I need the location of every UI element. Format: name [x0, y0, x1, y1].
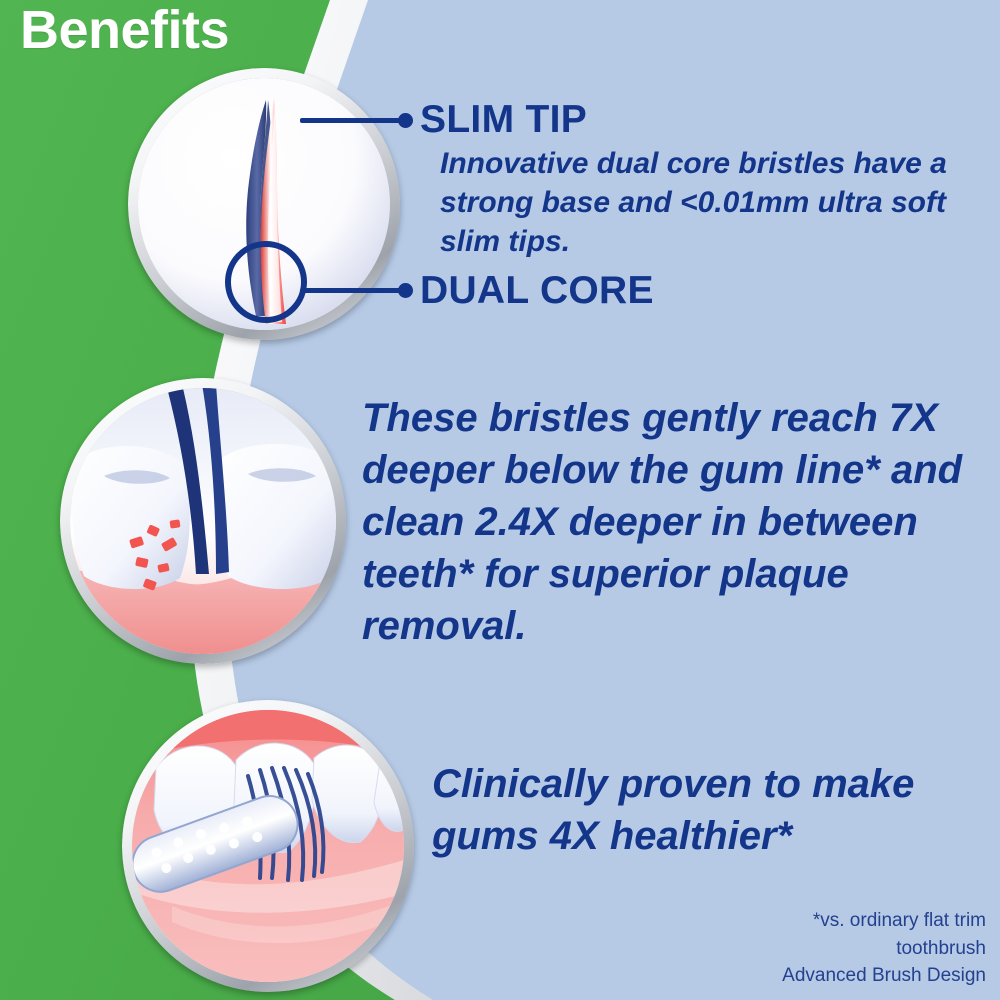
- footnote-line-2: toothbrush: [566, 935, 986, 963]
- footnote: *vs. ordinary flat trim toothbrush Advan…: [566, 907, 986, 990]
- benefit-text-bottom: Clinically proven to make gums 4X health…: [432, 758, 992, 862]
- page-title: Benefits: [20, 2, 229, 59]
- benefit-text-middle: These bristles gently reach 7X deeper be…: [362, 392, 982, 652]
- illustration-circle-between-teeth: [60, 378, 346, 664]
- footnote-line-3: Advanced Brush Design: [566, 962, 986, 990]
- circle-inner: [70, 388, 336, 654]
- leader-line-slim-tip: [300, 118, 408, 123]
- footnote-line-1: *vs. ordinary flat trim: [566, 907, 986, 935]
- leader-line-dual-core: [300, 288, 408, 293]
- benefits-infographic: Benefits: [0, 0, 1000, 1000]
- illustration-circle-brushing-gums: [122, 700, 414, 992]
- callout-body-slim-tip: Innovative dual core bristles have a str…: [440, 144, 985, 261]
- circle-inner: [132, 710, 404, 982]
- callout-heading-dual-core: DUAL CORE: [420, 271, 654, 310]
- leader-dot-slim-tip: [398, 113, 413, 128]
- illustration-circle-slim-tip: [128, 68, 400, 340]
- callout-heading-slim-tip: SLIM TIP: [420, 100, 587, 139]
- leader-dot-dual-core: [398, 283, 413, 298]
